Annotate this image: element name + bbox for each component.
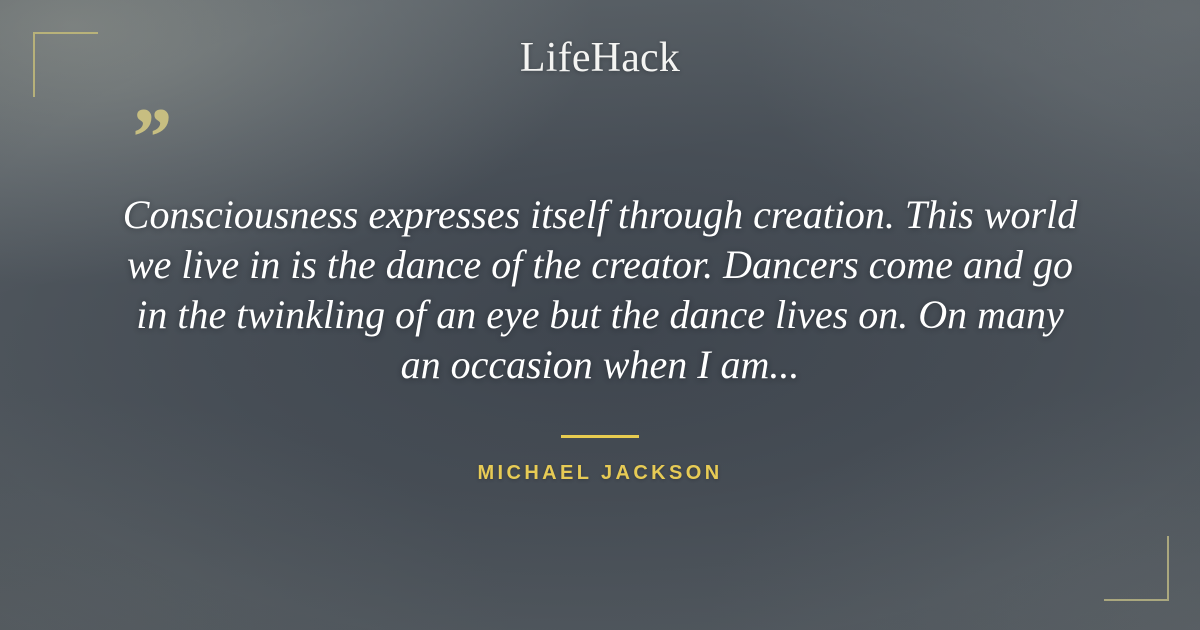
quote-line: in the twinkling of an eye but the dance… [100, 290, 1100, 340]
quote-text: Consciousness expresses itself through c… [100, 190, 1100, 390]
brand-logo: LifeHack [0, 36, 1200, 80]
quote-line: we live in is the dance of the creator. … [100, 240, 1100, 290]
attribution-divider [561, 435, 639, 438]
quote-card: LifeHack ” Consciousness expresses itsel… [0, 0, 1200, 630]
quote-line: Consciousness expresses itself through c… [100, 190, 1100, 240]
quotation-mark-icon: ” [128, 96, 170, 180]
corner-bracket-bottom-right-icon [1104, 536, 1169, 601]
quote-line: an occasion when I am... [100, 340, 1100, 390]
quote-author: MICHAEL JACKSON [0, 462, 1200, 485]
